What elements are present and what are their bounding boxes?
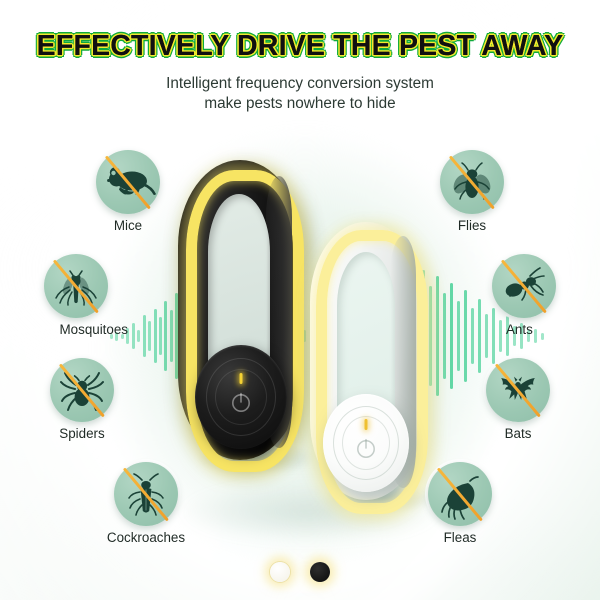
product-feature-graphic: EFFECTIVELY DRIVE THE PEST AWAY Intellig…: [0, 0, 600, 600]
pest-label: Spiders: [59, 426, 104, 441]
waveform-bar: [170, 310, 173, 362]
waveform-bar: [154, 309, 157, 363]
pest-badge-mosquitoes[interactable]: Mosquitoes: [44, 254, 108, 318]
waveform-bar: [143, 315, 146, 357]
waveform-bar: [478, 299, 481, 373]
pest-label: Mice: [114, 218, 142, 233]
waveform-bar: [471, 308, 474, 364]
waveform-bar: [164, 301, 167, 371]
power-icon[interactable]: [353, 435, 379, 461]
waveform-bar: [485, 314, 488, 358]
pest-label: Cockroaches: [107, 530, 185, 545]
subtitle-line-1: Intelligent frequency conversion system: [0, 74, 600, 94]
waveform-bar: [137, 330, 140, 342]
black-repeller-device[interactable]: [178, 160, 302, 460]
white-swatch[interactable]: [270, 562, 290, 582]
pest-badge-ants[interactable]: Ants: [492, 254, 556, 318]
waveform-bar: [541, 333, 544, 340]
subtitle-line-2: make pests nowhere to hide: [0, 94, 600, 114]
black-swatch[interactable]: [310, 562, 330, 582]
waveform-bar: [499, 320, 502, 352]
pest-label: Fleas: [444, 530, 477, 545]
waveform-bar: [457, 301, 460, 371]
pest-badge-bats[interactable]: Bats: [486, 358, 550, 422]
waveform-bar: [443, 293, 446, 379]
waveform-bar: [436, 276, 439, 396]
waveform-bar: [450, 283, 453, 389]
pest-label: Flies: [458, 218, 486, 233]
pest-badge-cockroaches[interactable]: Cockroaches: [114, 462, 178, 526]
device-control-knob[interactable]: [323, 394, 409, 492]
white-repeller-device[interactable]: [310, 222, 422, 500]
color-option-swatches: [0, 562, 600, 588]
page-subtitle: Intelligent frequency conversion system …: [0, 74, 600, 114]
power-indicator-led: [240, 373, 243, 384]
page-title: EFFECTIVELY DRIVE THE PEST AWAY: [0, 30, 600, 63]
pest-label: Ants: [506, 322, 533, 337]
waveform-bar: [148, 321, 151, 351]
device-control-knob[interactable]: [195, 345, 287, 449]
pest-label: Mosquitoes: [60, 322, 128, 337]
waveform-bar: [132, 323, 135, 349]
waveform-bar: [429, 286, 432, 386]
pest-badge-flies[interactable]: Flies: [440, 150, 504, 214]
power-icon[interactable]: [228, 389, 254, 415]
waveform-bar: [464, 290, 467, 382]
pest-badge-spiders[interactable]: Spiders: [50, 358, 114, 422]
pest-badge-fleas[interactable]: Fleas: [428, 462, 492, 526]
power-indicator-led: [365, 419, 368, 430]
waveform-bar: [534, 329, 537, 343]
pest-label: Bats: [505, 426, 532, 441]
pest-badge-mice[interactable]: Mice: [96, 150, 160, 214]
waveform-bar: [159, 317, 162, 355]
